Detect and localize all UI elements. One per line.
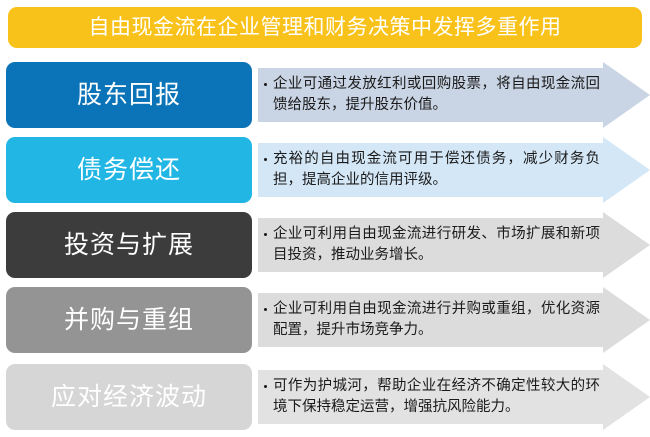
description-text: 企业可利用自由现金流进行并购或重组，优化资源配置，提升市场竞争力。 [264, 299, 600, 341]
label-text: 股东回报 [77, 83, 181, 108]
label-text: 投资与扩展 [64, 233, 194, 258]
row-investment-expansion: 投资与扩展 企业可利用自由现金流进行研发、市场扩展和新项目投资，推动业务增长。 [0, 212, 650, 278]
arrow-band: 充裕的自由现金流可用于偿还债务，减少财务负担，提高企业的信用评级。 [258, 137, 650, 203]
bullet-icon [264, 158, 267, 161]
arrow-content: 企业可通过发放红利或回购股票，将自由现金流回馈给股东，提升股东价值。 [264, 62, 600, 128]
arrow-content: 充裕的自由现金流可用于偿还债务，减少财务负担，提高企业的信用评级。 [264, 137, 600, 203]
row-shareholder-returns: 股东回报 企业可通过发放红利或回购股票，将自由现金流回馈给股东，提升股东价值。 [0, 62, 650, 128]
row-debt-repayment: 债务偿还 充裕的自由现金流可用于偿还债务，减少财务负担，提高企业的信用评级。 [0, 137, 650, 203]
label-text: 应对经济波动 [51, 385, 207, 410]
label-box[interactable]: 应对经济波动 [6, 364, 252, 430]
row-economic-volatility: 应对经济波动 可作为护城河，帮助企业在经济不确定性较大的环境下保持稳定运营，增强… [0, 364, 650, 430]
label-text: 债务偿还 [77, 158, 181, 183]
description-text: 可作为护城河，帮助企业在经济不确定性较大的环境下保持稳定运营，增强抗风险能力。 [264, 376, 600, 418]
label-text: 并购与重组 [64, 308, 194, 333]
arrow-content: 企业可利用自由现金流进行研发、市场扩展和新项目投资，推动业务增长。 [264, 212, 600, 278]
arrow-content: 企业可利用自由现金流进行并购或重组，优化资源配置，提升市场竞争力。 [264, 287, 600, 353]
arrow-band: 企业可通过发放红利或回购股票，将自由现金流回馈给股东，提升股东价值。 [258, 62, 650, 128]
arrow-band: 企业可利用自由现金流进行研发、市场扩展和新项目投资，推动业务增长。 [258, 212, 650, 278]
description-text: 充裕的自由现金流可用于偿还债务，减少财务负担，提高企业的信用评级。 [264, 149, 600, 191]
description-text: 企业可利用自由现金流进行研发、市场扩展和新项目投资，推动业务增长。 [264, 224, 600, 266]
arrow-band: 可作为护城河，帮助企业在经济不确定性较大的环境下保持稳定运营，增强抗风险能力。 [258, 364, 650, 430]
label-box[interactable]: 投资与扩展 [6, 212, 252, 278]
title-banner: 自由现金流在企业管理和财务决策中发挥多重作用 [8, 7, 642, 48]
label-box[interactable]: 股东回报 [6, 62, 252, 128]
bullet-icon [264, 308, 267, 311]
page-title: 自由现金流在企业管理和财务决策中发挥多重作用 [89, 17, 562, 38]
bullet-icon [264, 83, 267, 86]
label-box[interactable]: 并购与重组 [6, 287, 252, 353]
infographic-root: 自由现金流在企业管理和财务决策中发挥多重作用 股东回报 企业可通过发放红利或回购… [0, 0, 650, 437]
arrow-content: 可作为护城河，帮助企业在经济不确定性较大的环境下保持稳定运营，增强抗风险能力。 [264, 364, 600, 430]
row-mergers-restructuring: 并购与重组 企业可利用自由现金流进行并购或重组，优化资源配置，提升市场竞争力。 [0, 287, 650, 353]
arrow-band: 企业可利用自由现金流进行并购或重组，优化资源配置，提升市场竞争力。 [258, 287, 650, 353]
label-box[interactable]: 债务偿还 [6, 137, 252, 203]
bullet-icon [264, 385, 267, 388]
bullet-icon [264, 233, 267, 236]
description-text: 企业可通过发放红利或回购股票，将自由现金流回馈给股东，提升股东价值。 [264, 74, 600, 116]
